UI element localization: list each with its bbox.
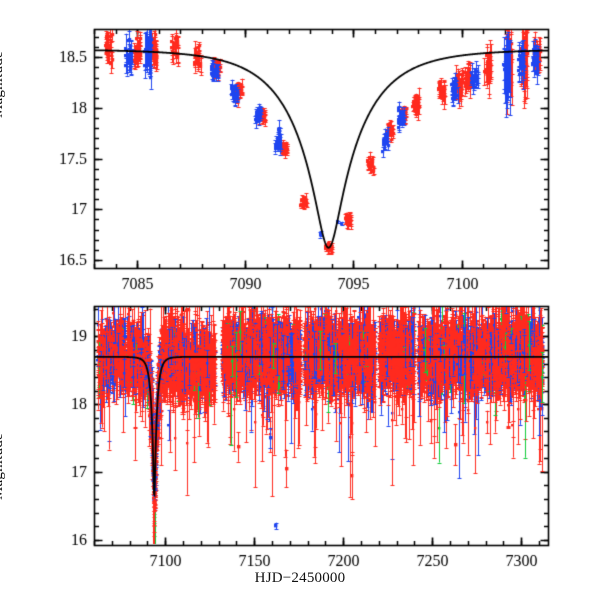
bottom-panel-y-axis-label: Magnitude	[0, 433, 7, 500]
bottom-panel-x-axis-label: HJD−2450000	[0, 570, 600, 587]
top-panel-y-axis-label: Magnitude	[0, 51, 7, 118]
light-curve-figure: Magnitude Magnitude HJD−2450000 Zoomed m…	[0, 0, 600, 600]
light-curve-canvas	[0, 0, 600, 600]
